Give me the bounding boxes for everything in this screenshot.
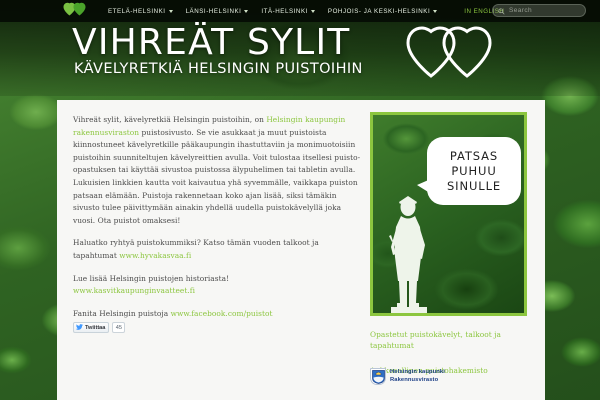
puistokummi-paragraph: Haluatko ryhtyä puistokummiksi? Katso tä… (73, 237, 363, 262)
footer-org-line-2: Rakennusvirasto (390, 377, 445, 384)
page-title: VIHREÄT SYLIT (72, 26, 363, 60)
tweet-button[interactable]: Twiittaa (73, 322, 109, 333)
facebook-text: Fanita Helsingin puistoja (73, 309, 171, 318)
bubble-line-2: PUHUU (451, 164, 496, 178)
search-icon (498, 2, 505, 20)
link-facebook-puistot[interactable]: www.facebook.com/puistot (171, 309, 273, 318)
search-field[interactable]: Search (492, 4, 586, 17)
twitter-share-widget: Twiittaa 45 (73, 322, 125, 333)
article-text-column: Vihreät sylit, kävelyretkiä Helsingin pu… (73, 114, 363, 330)
sidebar-column: PATSAS PUHUU SINULLE Opastetut puistokäv… (370, 112, 530, 390)
double-heart-outline-icon (404, 24, 496, 85)
bubble-line-3: SINULLE (447, 179, 501, 193)
nav-item-ita-helsinki[interactable]: ITÄ-HELSINKI (261, 8, 314, 15)
link-kasvitkaupunginvaatteet[interactable]: www.kasvitkaupunginvaatteet.fi (73, 286, 195, 295)
chevron-down-icon (244, 10, 248, 13)
promo-banner-patsas[interactable]: PATSAS PUHUU SINULLE (370, 112, 527, 316)
intro-paragraph: Vihreät sylit, kävelyretkiä Helsingin pu… (73, 114, 363, 227)
chevron-down-icon (311, 10, 315, 13)
page-root: ETELÄ-HELSINKI LÄNSI-HELSINKI ITÄ-HELSIN… (0, 0, 600, 400)
twitter-bird-icon (76, 324, 83, 332)
historia-text: Lue lisää Helsingin puistojen historiast… (73, 274, 229, 283)
content-card: Vihreät sylit, kävelyretkiä Helsingin pu… (57, 100, 545, 400)
hero-banner: VIHREÄT SYLIT KÄVELYRETKIÄ HELSINGIN PUI… (72, 26, 363, 77)
helsinki-coat-of-arms-icon (370, 368, 386, 385)
nav-item-pohjois-ja-keski-helsinki[interactable]: POHJOIS- JA KESKI-HELSINKI (328, 8, 437, 15)
footer-organization-logo[interactable]: Helsingin kaupunki Rakennusvirasto (370, 368, 445, 385)
nav-item-label: LÄNSI-HELSINKI (186, 8, 242, 15)
nav-item-label: ITÄ-HELSINKI (261, 8, 307, 15)
link-hyvakasvaa[interactable]: www.hyvakasvaa.fi (119, 251, 191, 260)
puistokummi-text: Haluatko ryhtyä puistokummiksi? Katso tä… (73, 238, 319, 260)
main-nav-list: ETELÄ-HELSINKI LÄNSI-HELSINKI ITÄ-HELSIN… (108, 8, 504, 15)
site-logo[interactable] (56, 2, 94, 20)
chevron-down-icon (169, 10, 173, 13)
chevron-down-icon (433, 10, 437, 13)
statue-silhouette-icon (387, 195, 431, 313)
search-placeholder: Search (509, 7, 532, 14)
tweet-button-label: Twiittaa (85, 325, 105, 331)
sidebar-link-opastetut-puistokavelyt[interactable]: Opastetut puistokävelyt, talkoot ja tapa… (370, 329, 525, 351)
intro-text-part1: Vihreät sylit, kävelyretkiä Helsingin pu… (73, 115, 266, 124)
facebook-paragraph: Fanita Helsingin puistoja www.facebook.c… (73, 308, 363, 321)
tweet-count-badge[interactable]: 45 (112, 322, 125, 333)
top-navigation-bar: ETELÄ-HELSINKI LÄNSI-HELSINKI ITÄ-HELSIN… (0, 0, 600, 22)
footer-organization-text: Helsingin kaupunki Rakennusvirasto (390, 369, 445, 384)
nav-item-label: ETELÄ-HELSINKI (108, 8, 166, 15)
historia-paragraph: Lue lisää Helsingin puistojen historiast… (73, 273, 363, 298)
speech-bubble: PATSAS PUHUU SINULLE (427, 137, 521, 205)
page-subtitle: KÄVELYRETKIÄ HELSINGIN PUISTOIHIN (74, 61, 363, 77)
nav-item-label: POHJOIS- JA KESKI-HELSINKI (328, 8, 430, 15)
nav-item-lansi-helsinki[interactable]: LÄNSI-HELSINKI (186, 8, 249, 15)
bubble-line-1: PATSAS (450, 149, 498, 163)
intro-text-part2: puistosivusto. Se vie asukkaat ja muut p… (73, 128, 360, 225)
footer-org-line-1: Helsingin kaupunki (390, 369, 445, 376)
nav-item-etela-helsinki[interactable]: ETELÄ-HELSINKI (108, 8, 173, 15)
double-heart-logo-icon (63, 2, 87, 21)
